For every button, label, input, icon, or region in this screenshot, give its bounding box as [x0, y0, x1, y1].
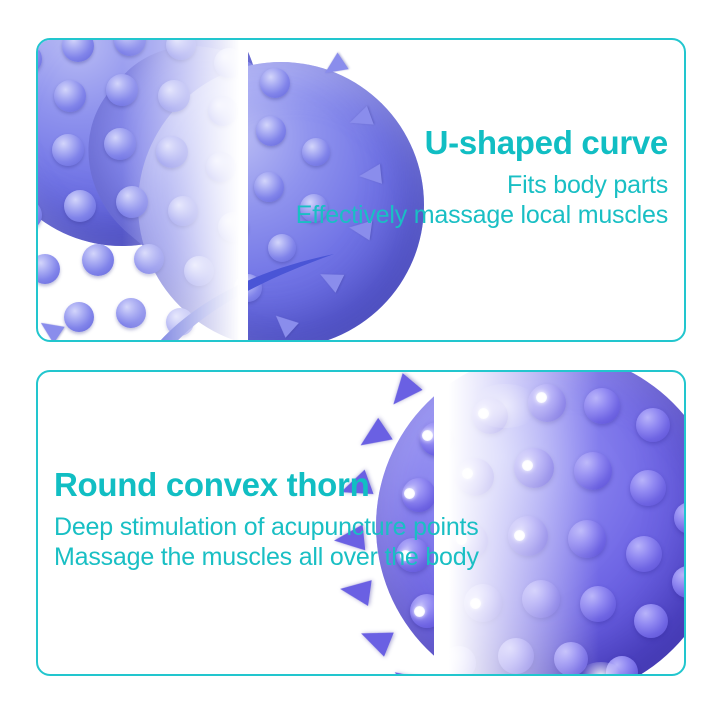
feature-panel-round-convex-thorn: Round convex thorn Deep stimulation of a…	[36, 370, 686, 676]
panel-one-subline-2: Effectively massage local muscles	[296, 203, 668, 228]
feature-panel-u-shaped-curve: U-shaped curve Fits body parts Effective…	[36, 38, 686, 342]
spike-tip-highlight	[422, 430, 433, 441]
panel-one-headline: U-shaped curve	[296, 126, 668, 159]
panel-two-subline-1: Deep stimulation of acupuncture points	[54, 515, 479, 540]
panel-one-content: U-shaped curve Fits body parts Effective…	[38, 40, 684, 340]
spike-tip-highlight	[414, 606, 425, 617]
product-feature-page: U-shaped curve Fits body parts Effective…	[0, 0, 720, 720]
panel-two-headline: Round convex thorn	[54, 468, 479, 501]
panel-one-copy: U-shaped curve Fits body parts Effective…	[296, 126, 668, 228]
panel-two-copy: Round convex thorn Deep stimulation of a…	[54, 468, 479, 570]
panel-one-subline-1: Fits body parts	[296, 173, 668, 198]
panel-one-image-fade	[38, 40, 248, 340]
panel-two-subline-2: Massage the muscles all over the body	[54, 545, 479, 570]
panel-two-content: Round convex thorn Deep stimulation of a…	[38, 372, 684, 674]
